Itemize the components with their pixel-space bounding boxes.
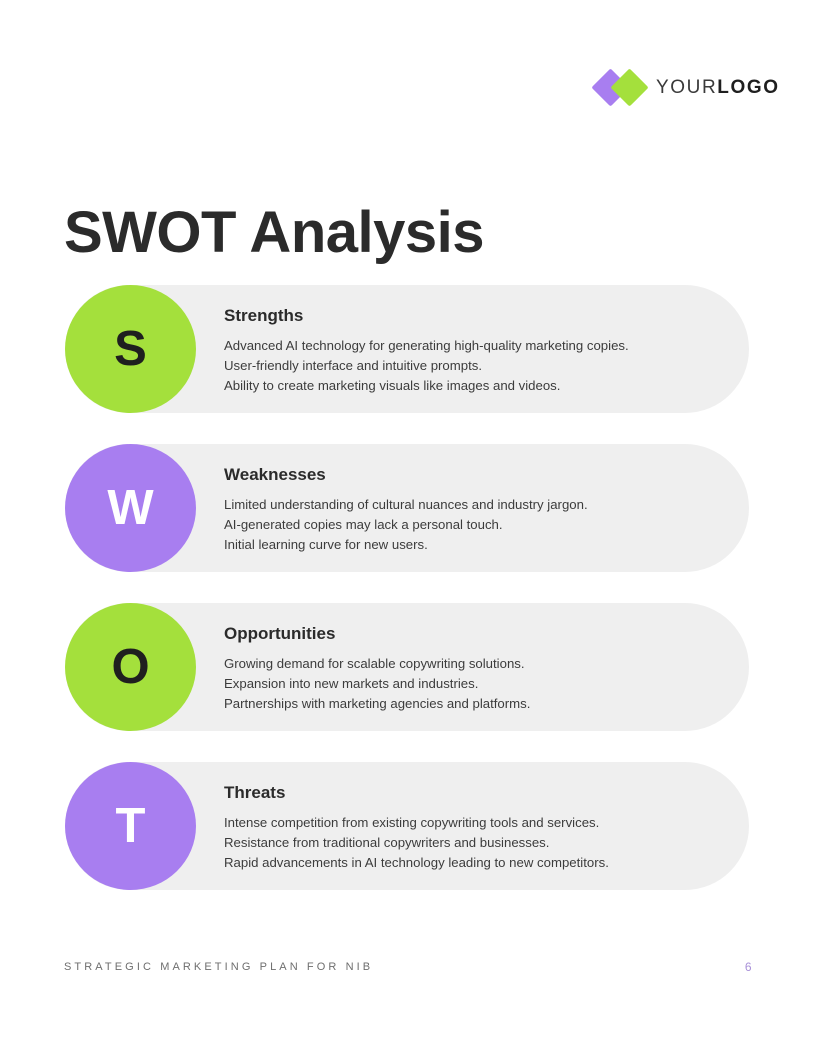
swot-point: Limited understanding of cultural nuance… [224, 495, 719, 515]
swot-point: AI-generated copies may lack a personal … [224, 515, 719, 535]
swot-badge-o: O [65, 603, 196, 731]
page-title: SWOT Analysis [64, 201, 484, 265]
logo-diamonds-icon [596, 68, 652, 108]
swot-badge-letter: O [111, 643, 149, 692]
swot-list: S Strengths Advanced AI technology for g… [65, 285, 749, 921]
swot-row-threats: T Threats Intense competition from exist… [65, 762, 749, 890]
swot-point: Partnerships with marketing agencies and… [224, 694, 719, 714]
page-number: 6 [745, 960, 752, 974]
swot-badge-letter: S [114, 325, 147, 374]
swot-heading: Opportunities [224, 624, 719, 644]
swot-badge-w: W [65, 444, 196, 572]
logo-text-your: YOUR [656, 77, 717, 98]
swot-point: Initial learning curve for new users. [224, 535, 719, 555]
footer-label: STRATEGIC MARKETING PLAN FOR NIB [64, 961, 373, 973]
swot-content-strengths: Strengths Advanced AI technology for gen… [224, 306, 719, 396]
swot-point: Advanced AI technology for generating hi… [224, 336, 719, 356]
swot-point: Intense competition from existing copywr… [224, 813, 719, 833]
swot-content-weaknesses: Weaknesses Limited understanding of cult… [224, 465, 719, 555]
slide-footer: STRATEGIC MARKETING PLAN FOR NIB 6 [64, 960, 752, 974]
swot-points: Advanced AI technology for generating hi… [224, 336, 719, 395]
swot-badge-letter: W [107, 484, 153, 533]
slide-canvas: YOURLOGO SWOT Analysis S Strengths Advan… [0, 0, 816, 1056]
swot-point: User-friendly interface and intuitive pr… [224, 356, 719, 376]
swot-heading: Weaknesses [224, 465, 719, 485]
swot-points: Limited understanding of cultural nuance… [224, 495, 719, 554]
swot-content-opportunities: Opportunities Growing demand for scalabl… [224, 624, 719, 714]
swot-badge-s: S [65, 285, 196, 413]
swot-row-weaknesses: W Weaknesses Limited understanding of cu… [65, 444, 749, 572]
brand-logo: YOURLOGO [596, 68, 780, 108]
swot-points: Intense competition from existing copywr… [224, 813, 719, 872]
logo-wordmark: YOURLOGO [656, 77, 780, 99]
swot-heading: Threats [224, 783, 719, 803]
swot-point: Resistance from traditional copywriters … [224, 833, 719, 853]
swot-point: Rapid advancements in AI technology lead… [224, 853, 719, 873]
swot-badge-letter: T [116, 802, 146, 851]
swot-content-threats: Threats Intense competition from existin… [224, 783, 719, 873]
swot-heading: Strengths [224, 306, 719, 326]
swot-row-strengths: S Strengths Advanced AI technology for g… [65, 285, 749, 413]
logo-text-logo: LOGO [717, 77, 779, 98]
swot-badge-t: T [65, 762, 196, 890]
swot-point: Growing demand for scalable copywriting … [224, 654, 719, 674]
swot-points: Growing demand for scalable copywriting … [224, 654, 719, 713]
swot-row-opportunities: O Opportunities Growing demand for scala… [65, 603, 749, 731]
swot-point: Ability to create marketing visuals like… [224, 376, 719, 396]
swot-point: Expansion into new markets and industrie… [224, 674, 719, 694]
